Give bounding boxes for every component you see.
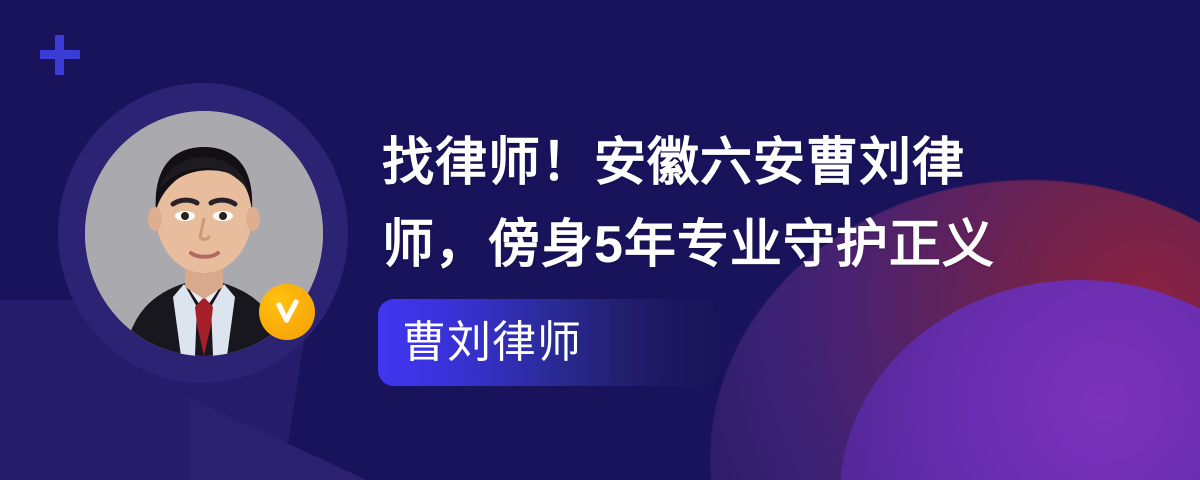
- lawyer-promo-banner: 找律师！安徽六安曹刘律师，傍身5年专业守护正义 曹刘律师: [0, 0, 1200, 480]
- page-title: 找律师！安徽六安曹刘律师，傍身5年专业守护正义: [382, 122, 1042, 286]
- avatar: [58, 83, 348, 383]
- lawyer-name-button[interactable]: 曹刘律师: [378, 299, 716, 386]
- plus-icon: [40, 35, 80, 75]
- verified-badge-icon: [259, 284, 315, 340]
- decor-slab-bottom-left: [0, 430, 150, 480]
